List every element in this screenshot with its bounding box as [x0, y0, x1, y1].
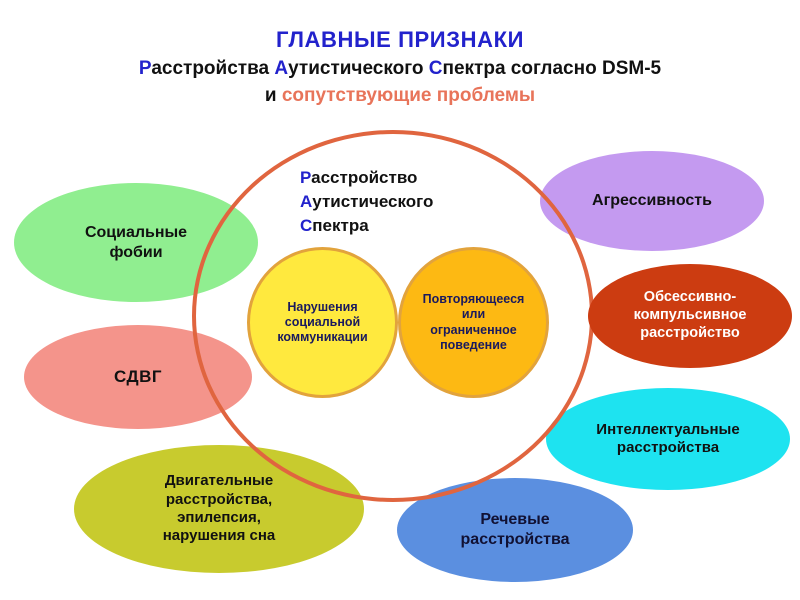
- asd-caption-line-2: Аутистического: [300, 190, 510, 214]
- title-accent-text: сопутствующие проблемы: [282, 85, 535, 106]
- bubble-aggression[interactable]: Агрессивность: [540, 151, 764, 251]
- bubble-speech-disorders[interactable]: Речевыерасстройства: [397, 478, 633, 582]
- title-initial-s: С: [429, 58, 443, 79]
- asd-initial-a: А: [300, 192, 312, 211]
- bubble-label-aggression: Агрессивность: [584, 191, 720, 211]
- asd-word-autisticheskogo: утистического: [312, 192, 433, 211]
- asd-initial-r: Р: [300, 168, 311, 187]
- asd-word-spektra: пектра: [312, 216, 368, 235]
- diagram-canvas: ГЛАВНЫЕ ПРИЗНАКИ Расстройства Аутистичес…: [0, 0, 800, 600]
- bubble-adhd[interactable]: СДВГ: [24, 325, 252, 429]
- title-line-tertiary: и сопутствующие проблемы: [0, 84, 800, 108]
- bubble-label-speech-disorders: Речевыерасстройства: [453, 510, 578, 549]
- title-initial-r: Р: [139, 58, 151, 79]
- title-block: ГЛАВНЫЕ ПРИЗНАКИ Расстройства Аутистичес…: [0, 26, 800, 109]
- asd-caption-line-3: Спектра: [300, 214, 510, 238]
- title-line-secondary: Расстройства Аутистического Спектра согл…: [0, 57, 800, 81]
- asd-initial-s: С: [300, 216, 312, 235]
- venn-circle-repetitive-behavior[interactable]: Повторяющеесяилиограниченноеповедение: [398, 247, 549, 398]
- bubble-label-social-phobia: Социальныефобии: [77, 223, 195, 262]
- asd-caption-line-1: Расстройство: [300, 166, 510, 190]
- title-initial-a: А: [274, 58, 288, 79]
- bubble-intellectual-disorders[interactable]: Интеллектуальныерасстройства: [546, 388, 790, 490]
- bubble-label-adhd: СДВГ: [106, 367, 170, 388]
- venn-label-social-communication: Нарушениясоциальнойкоммуникации: [269, 300, 375, 346]
- bubble-ocd[interactable]: Обсессивно-компульсивноерасстройство: [588, 264, 792, 368]
- asd-caption: Расстройство Аутистического Спектра: [300, 166, 510, 238]
- bubble-label-intellectual-disorders: Интеллектуальныерасстройства: [588, 421, 747, 458]
- title-conjunction: и: [265, 85, 282, 106]
- venn-circle-social-communication[interactable]: Нарушениясоциальнойкоммуникации: [247, 247, 398, 398]
- title-line-primary: ГЛАВНЫЕ ПРИЗНАКИ: [0, 26, 800, 54]
- bubble-social-phobia[interactable]: Социальныефобии: [14, 183, 258, 302]
- title-word-rasstroystva: асстройства: [151, 58, 274, 79]
- bubble-motor-disorders[interactable]: Двигательныерасстройства,эпилепсия,наруш…: [74, 445, 364, 573]
- title-word-spektra-dsm5: пектра согласно DSM-5: [443, 58, 662, 79]
- title-word-autisticheskogo: утистического: [288, 58, 429, 79]
- asd-word-rasstroystvo: асстройство: [311, 168, 417, 187]
- venn-label-repetitive-behavior: Повторяющеесяилиограниченноеповедение: [415, 292, 533, 353]
- bubble-label-motor-disorders: Двигательныерасстройства,эпилепсия,наруш…: [155, 472, 284, 545]
- bubble-label-ocd: Обсессивно-компульсивноерасстройство: [626, 289, 755, 342]
